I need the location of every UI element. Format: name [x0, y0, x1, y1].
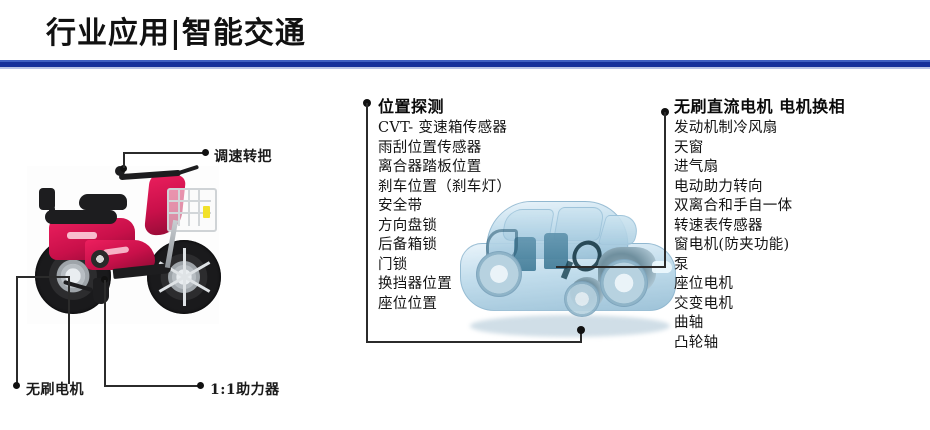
connector-line-position-v [366, 103, 368, 343]
list-item: 后备箱锁 [378, 236, 511, 256]
connector-line-bldc-v [664, 112, 666, 268]
ebike-hub-cap [91, 250, 109, 268]
callout-label-assist: 1:1助力器 [210, 379, 280, 399]
list-item: 泵 [674, 256, 845, 276]
callout-line-assist-h [104, 385, 200, 387]
car-shadow [470, 315, 670, 337]
list-item: 转速表传感器 [674, 217, 845, 237]
title-divider-shadow [0, 67, 930, 69]
callout-dot-assist [197, 382, 204, 389]
list-heading-position-detection: 位置探测 [378, 93, 511, 117]
ebike-decal [67, 232, 97, 239]
page-title: 行业应用|智能交通 [46, 8, 306, 52]
list-item: 凸轮轴 [674, 334, 845, 354]
list-position-detection: 位置探测 CVT- 变速箱传感器 雨刮位置传感器 离合器踏板位置 刹车位置（刹车… [378, 93, 511, 314]
callout-label-throttle: 调速转把 [214, 146, 272, 166]
ebike-rear-rack [45, 210, 117, 224]
list-item: 门锁 [378, 256, 511, 276]
list-heading-bldc-commutation: 无刷直流电机 电机换相 [674, 93, 845, 117]
callout-line-throttle-h [123, 152, 205, 154]
list-item: 方向盘锁 [378, 217, 511, 237]
list-bldc-commutation: 无刷直流电机 电机换相 发动机制冷风扇 天窗 进气扇 电动助力转向 双离合和手自… [674, 93, 845, 353]
list-item: 进气扇 [674, 158, 845, 178]
list-item: 双离合和手自一体 [674, 197, 845, 217]
list-item: 雨刮位置传感器 [378, 139, 511, 159]
list-item: 交变电机 [674, 295, 845, 315]
list-items-bldc-commutation: 发动机制冷风扇 天窗 进气扇 电动助力转向 双离合和手自一体 转速表传感器 窗电… [674, 119, 845, 353]
list-item: 座位位置 [378, 295, 511, 315]
list-item: 窗电机(防夹功能) [674, 236, 845, 256]
ebike-backrest-post [49, 206, 55, 224]
car-windshield [598, 215, 643, 245]
list-item: 电动助力转向 [674, 178, 845, 198]
ebike-throttle-grip [177, 165, 199, 176]
list-item: 刹车位置（刹车灯） [378, 178, 511, 198]
car-near-wheel [564, 281, 600, 317]
ebike-seat [79, 194, 127, 210]
list-item: 天窗 [674, 139, 845, 159]
slide-canvas: 行业应用|智能交通 [0, 0, 930, 430]
list-item: 安全带 [378, 197, 511, 217]
connector-line-position-h [366, 341, 582, 343]
callout-dot-motor [13, 382, 20, 389]
callout-line-throttle-v [123, 152, 125, 168]
connector-line-bldc-h [556, 266, 666, 268]
list-item: CVT- 变速箱传感器 [378, 119, 511, 139]
ebike-image [27, 166, 219, 324]
list-item: 换挡器位置 [378, 275, 511, 295]
callout-line-motor-v [68, 276, 70, 384]
title-divider [0, 60, 930, 69]
connector-dot-position-target [577, 326, 585, 334]
callout-line-motor-v2 [16, 276, 18, 384]
callout-label-motor: 无刷电机 [26, 379, 84, 399]
list-item: 座位电机 [674, 275, 845, 295]
list-item: 曲轴 [674, 314, 845, 334]
list-item: 离合器踏板位置 [378, 158, 511, 178]
ebike-basket-sticker [203, 206, 210, 218]
list-items-position-detection: CVT- 变速箱传感器 雨刮位置传感器 离合器踏板位置 刹车位置（刹车灯） 安全… [378, 119, 511, 314]
callout-line-motor-h [16, 276, 70, 278]
car-front-seat [544, 233, 568, 269]
list-item: 发动机制冷风扇 [674, 119, 845, 139]
callout-dot-throttle-end [202, 149, 209, 156]
callout-line-assist-v [104, 280, 106, 386]
